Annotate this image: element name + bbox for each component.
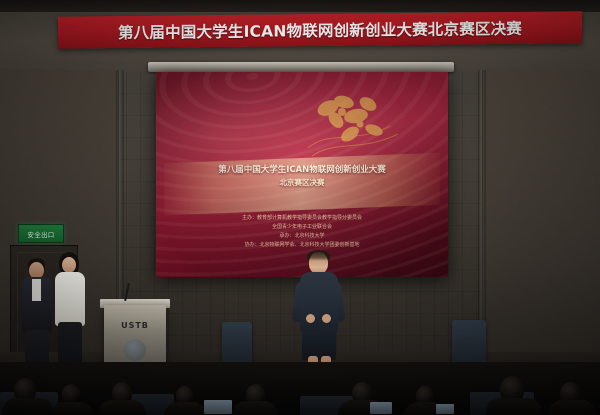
head bbox=[62, 257, 76, 273]
photo-scene: 第八届中国大学生ICAN物联网创新创业大赛北京赛区决赛 安全出口 bbox=[0, 0, 600, 415]
slide-credit-line: 协办：北京物联网学会、北京科技大学团委创新基地 bbox=[156, 241, 448, 250]
slide-subtitle: 北京赛区决赛 bbox=[156, 177, 448, 188]
event-banner: 第八届中国大学生ICAN物联网创新创业大赛北京赛区决赛 bbox=[58, 11, 582, 48]
head bbox=[309, 252, 328, 274]
audience-body bbox=[2, 398, 54, 415]
slide-credits: 主办：教育部计算机教学指导委员会教学指导分委员会 全国青少年电子工业联合会 承办… bbox=[156, 214, 448, 250]
slide-credit-line: 全国青少年电子工业联合会 bbox=[156, 223, 448, 232]
audience-body bbox=[164, 402, 206, 415]
torso bbox=[300, 272, 338, 334]
shirt bbox=[32, 279, 41, 301]
audience-body bbox=[548, 400, 596, 415]
slide-credit-line: 主办：教育部计算机教学指导委员会教学指导分委员会 bbox=[156, 214, 448, 223]
exit-sign-text: 安全出口 bbox=[27, 229, 54, 239]
skirt bbox=[302, 328, 336, 360]
standing-student bbox=[52, 252, 88, 380]
presentation-slide: 第八届中国大学生ICAN物联网创新创业大赛 北京赛区决赛 主办：教育部计算机教学… bbox=[156, 72, 448, 277]
university-emblem-icon bbox=[124, 339, 146, 361]
left-hand bbox=[306, 314, 315, 323]
audience-foreground bbox=[0, 362, 600, 415]
laptop-screen bbox=[204, 400, 232, 414]
audience-head bbox=[62, 384, 80, 404]
exit-sign: 安全出口 bbox=[18, 224, 64, 243]
event-banner-text: 第八届中国大学生ICAN物联网创新创业大赛北京赛区决赛 bbox=[118, 17, 522, 43]
right-wall-panel bbox=[482, 70, 600, 380]
podium-label: USTB bbox=[104, 321, 166, 330]
audience-body bbox=[50, 402, 94, 415]
slide-credit-line: 承办：北京科技大学 bbox=[156, 232, 448, 241]
stage-chair bbox=[452, 320, 486, 366]
screen-housing bbox=[148, 62, 454, 72]
stage-chair bbox=[222, 322, 252, 364]
slide-title: 第八届中国大学生ICAN物联网创新创业大赛 bbox=[156, 164, 448, 177]
audience-body bbox=[98, 400, 146, 415]
laptop-screen bbox=[436, 404, 454, 414]
audience-body bbox=[486, 398, 542, 415]
torso bbox=[55, 272, 85, 326]
right-hand bbox=[322, 314, 331, 323]
projection-screen: 第八届中国大学生ICAN物联网创新创业大赛 北京赛区决赛 主办：教育部计算机教学… bbox=[156, 72, 448, 277]
audience-body bbox=[232, 401, 278, 415]
flower-icon bbox=[298, 86, 438, 166]
laptop-screen bbox=[370, 402, 392, 414]
